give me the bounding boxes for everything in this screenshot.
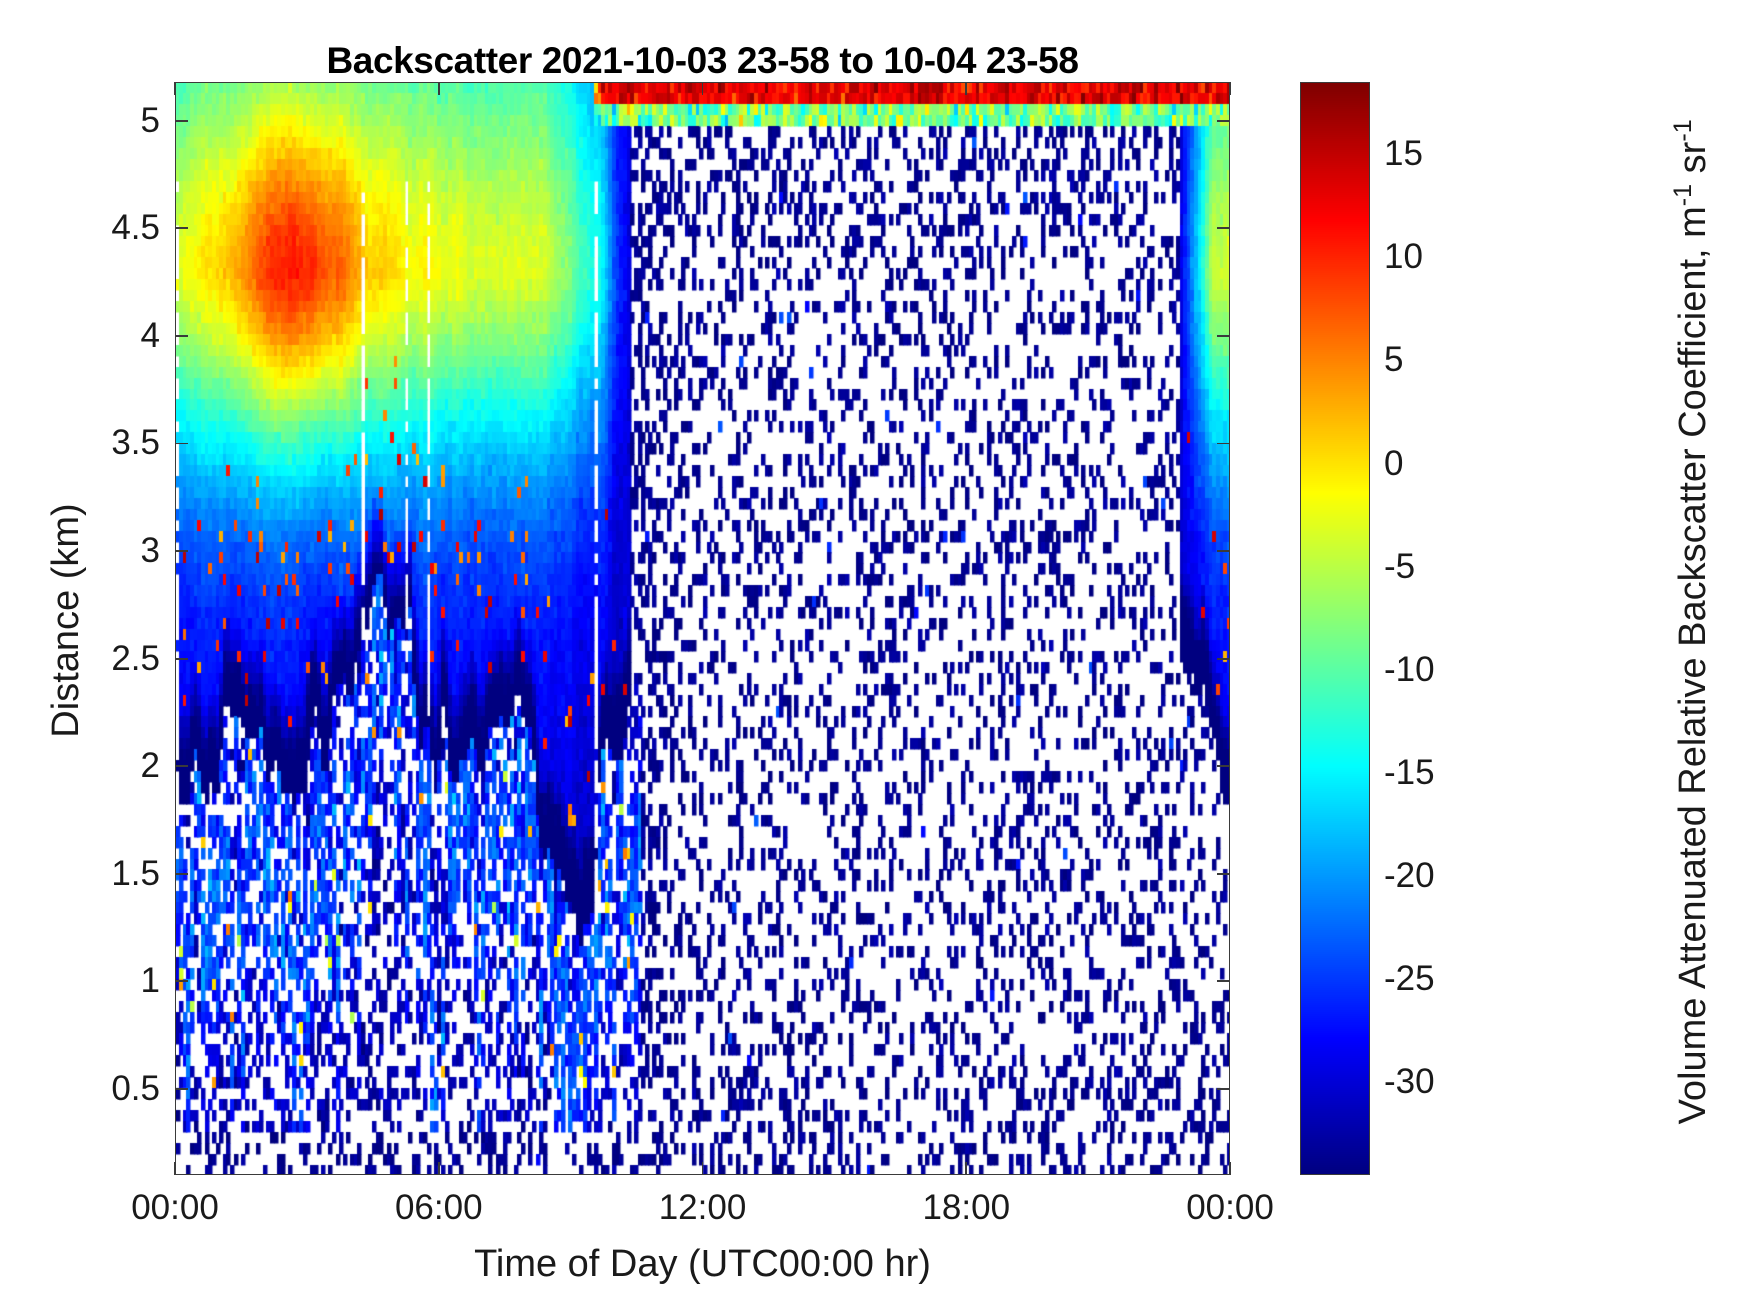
colorbar-tick-label: 5 [1384, 340, 1403, 380]
x-axis-tick [702, 1162, 704, 1175]
y-axis-tick [175, 443, 188, 445]
colorbar-title-exponent-2: -1 [1669, 119, 1697, 141]
colorbar-tick-label: -15 [1384, 753, 1435, 793]
colorbar-tick-label: -5 [1384, 547, 1415, 587]
y-axis-tick [175, 335, 188, 337]
y-axis-tick-right [1217, 120, 1230, 122]
x-axis-title: Time of Day (UTC00:00 hr) [175, 1243, 1230, 1286]
x-axis-tick-label: 00:00 [1186, 1188, 1274, 1228]
y-axis-tick-right [1217, 765, 1230, 767]
x-axis-tick-label: 00:00 [131, 1188, 219, 1228]
x-axis-tick-top [965, 82, 967, 95]
colorbar-tick-label: -25 [1384, 959, 1435, 999]
backscatter-heatmap [176, 83, 1230, 1175]
y-axis-tick-right [1217, 227, 1230, 229]
y-axis-tick [175, 873, 188, 875]
y-axis-tick [175, 550, 188, 552]
colorbar-title-main: Volume Attenuated Relative Backscatter C… [1672, 206, 1714, 1124]
y-axis-tick-right [1217, 335, 1230, 337]
y-axis-tick-right [1217, 1088, 1230, 1090]
x-axis-tick-label: 18:00 [922, 1188, 1010, 1228]
y-axis-tick [175, 765, 188, 767]
y-axis-tick [175, 658, 188, 660]
x-axis-tick-label: 12:00 [659, 1188, 747, 1228]
x-axis-tick-top [174, 82, 176, 95]
x-axis-tick-top [438, 82, 440, 95]
colorbar-tick-label: 10 [1384, 237, 1423, 277]
colorbar-gradient [1301, 83, 1370, 1175]
x-axis-tick [965, 1162, 967, 1175]
x-axis-tick-top [702, 82, 704, 95]
x-axis-tick-label: 06:00 [395, 1188, 483, 1228]
page-title: Backscatter 2021-10-03 23-58 to 10-04 23… [175, 40, 1230, 82]
colorbar-tick-label: -10 [1384, 650, 1435, 690]
y-axis-tick [175, 120, 188, 122]
y-axis-tick-right [1217, 658, 1230, 660]
y-axis-tick-right [1217, 873, 1230, 875]
colorbar-tick-label: 0 [1384, 444, 1403, 484]
colorbar [1300, 82, 1370, 1175]
colorbar-title-exponent-1: -1 [1669, 184, 1697, 206]
y-axis-tick [175, 980, 188, 982]
x-axis-tick [1229, 1162, 1231, 1175]
colorbar-title: Volume Attenuated Relative Backscatter C… [1669, 22, 1715, 1222]
x-axis-tick [438, 1162, 440, 1175]
y-axis-title: Distance (km) [45, 74, 88, 1167]
y-axis-tick-right [1217, 550, 1230, 552]
y-axis-tick-right [1217, 980, 1230, 982]
y-axis-tick-right [1217, 443, 1230, 445]
heatmap-axes [175, 82, 1230, 1175]
colorbar-title-mid: sr [1672, 142, 1714, 184]
x-axis-tick [174, 1162, 176, 1175]
y-axis-tick [175, 1088, 188, 1090]
colorbar-tick-label: 15 [1384, 134, 1423, 174]
colorbar-tick-label: -20 [1384, 856, 1435, 896]
figure-canvas: Backscatter 2021-10-03 23-58 to 10-04 23… [0, 0, 1750, 1313]
y-axis-tick [175, 227, 188, 229]
x-axis-tick-top [1229, 82, 1231, 95]
colorbar-tick-label: -30 [1384, 1062, 1435, 1102]
